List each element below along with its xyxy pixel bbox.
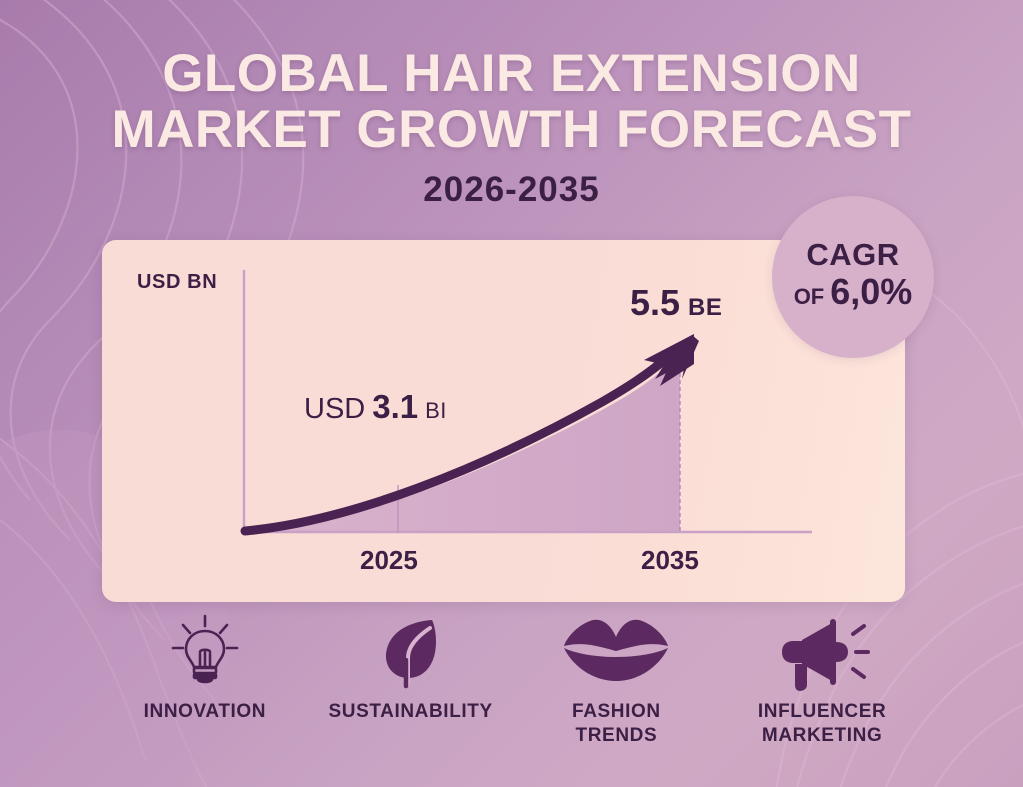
feature-label-fashion-trends: FASHION TRENDS xyxy=(572,700,661,748)
feature-label-innovation: INNOVATION xyxy=(144,700,266,724)
feature-label-sustainability: SUSTAINABILITY xyxy=(328,700,492,724)
chart-area-fill xyxy=(245,350,680,532)
end-value-unit: BE xyxy=(688,294,722,322)
infographic-canvas: GLOBAL HAIR EXTENSION MARKET GROWTH FORE… xyxy=(0,0,1023,787)
lips-icon xyxy=(562,608,670,694)
cagr-value-row: OF 6,0% xyxy=(794,272,913,317)
curve-arrowhead-solid xyxy=(644,334,694,386)
feature-fashion-trends: FASHION TRENDS xyxy=(514,608,720,748)
end-value-number: 5.5 xyxy=(630,282,680,324)
feature-row: INNOVATION SUSTAINABILITY FASHION TRENDS xyxy=(102,608,925,748)
cagr-label: CAGR xyxy=(806,238,899,272)
start-value-unit: BI xyxy=(425,398,447,424)
y-axis-label: USD BN xyxy=(137,271,217,294)
page-title: GLOBAL HAIR EXTENSION MARKET GROWTH FORE… xyxy=(0,46,1023,158)
x-tick-label-2025: 2025 xyxy=(360,545,418,576)
feature-influencer-marketing: INFLUENCER MARKETING xyxy=(719,608,925,748)
cagr-badge: CAGR OF 6,0% xyxy=(772,196,934,358)
feature-innovation: INNOVATION xyxy=(102,608,308,724)
feature-label-influencer-marketing: INFLUENCER MARKETING xyxy=(758,700,886,748)
x-tick-label-2035: 2035 xyxy=(641,545,699,576)
start-value-currency: USD xyxy=(304,393,365,426)
megaphone-icon xyxy=(774,608,870,694)
start-value-annotation: USD 3.1 BI xyxy=(304,388,447,426)
cagr-value: 6,0% xyxy=(830,272,912,312)
title-block: GLOBAL HAIR EXTENSION MARKET GROWTH FORE… xyxy=(0,46,1023,210)
start-value-number: 3.1 xyxy=(372,388,418,426)
end-value-annotation: 5.5 BE xyxy=(630,282,722,324)
cagr-of-label: OF xyxy=(794,277,825,317)
lightbulb-icon xyxy=(164,608,246,694)
feature-sustainability: SUSTAINABILITY xyxy=(308,608,514,724)
leaf-icon xyxy=(370,608,452,694)
